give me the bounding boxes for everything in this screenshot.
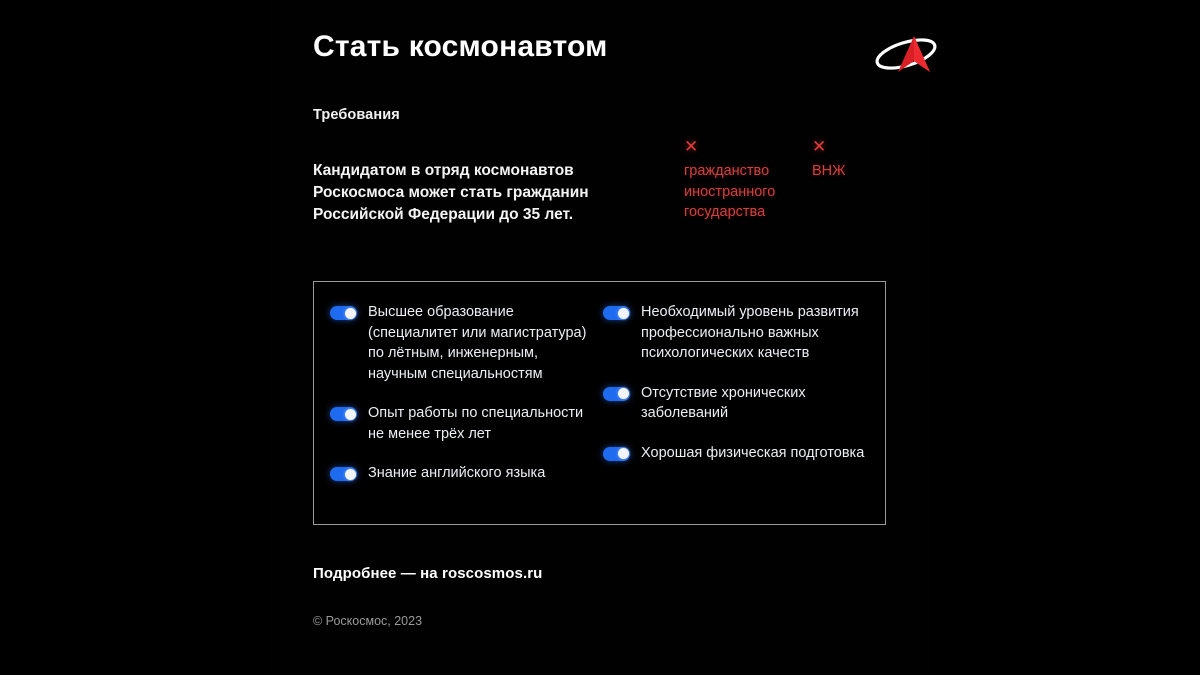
toggle-switch-icon[interactable] (330, 306, 357, 320)
toggle-switch-icon[interactable] (603, 447, 630, 461)
roscosmos-logo-icon (872, 28, 940, 80)
toggle-switch-icon[interactable] (330, 407, 357, 421)
more-info-link[interactable]: Подробнее — на roscosmos.ru (313, 565, 542, 582)
toggle-knob-icon (345, 469, 356, 480)
criteria-item-label: Хорошая физическая подготовка (641, 443, 864, 464)
criteria-item-label: Высшее образование (специалитет или маги… (368, 302, 598, 384)
slide-canvas: Стать космонавтом Требования Кандидатом … (270, 0, 930, 675)
excluded-item-label: гражданство иностранного государства (684, 161, 802, 223)
criteria-item-work-experience[interactable]: Опыт работы по специаль­ности не менее т… (330, 403, 598, 444)
criteria-item-english-language[interactable]: Знание английского языка (330, 463, 598, 484)
excluded-item-label: ВНЖ (812, 161, 912, 182)
criteria-item-higher-education[interactable]: Высшее образование (специалитет или маги… (330, 302, 598, 384)
criteria-item-label: Знание английского языка (368, 463, 545, 484)
cross-icon: ✕ (684, 138, 802, 155)
toggle-knob-icon (618, 388, 629, 399)
criteria-columns: Высшее образование (специалитет или маги… (314, 282, 885, 524)
criteria-column-right: Необходимый уровень развития профессиона… (603, 302, 871, 463)
page-title: Стать космонавтом (313, 30, 608, 64)
excluded-item-residence-permit: ✕ ВНЖ (812, 138, 912, 182)
criteria-item-physical-fitness[interactable]: Хорошая физическая подготовка (603, 443, 871, 464)
toggle-switch-icon[interactable] (603, 387, 630, 401)
toggle-knob-icon (618, 308, 629, 319)
toggle-knob-icon (345, 409, 356, 420)
excluded-conditions-group: ✕ гражданство иностранного государства ✕… (684, 138, 924, 248)
criteria-item-label: Опыт работы по специаль­ности не менее т… (368, 403, 598, 444)
criteria-item-label: Отсутствие хронических заболеваний (641, 383, 871, 424)
toggle-switch-icon[interactable] (603, 306, 630, 320)
requirements-heading: Требования (313, 107, 400, 123)
cross-icon: ✕ (812, 138, 912, 155)
toggle-knob-icon (345, 308, 356, 319)
criteria-column-left: Высшее образование (специалитет или маги… (330, 302, 598, 484)
criteria-item-label: Необходимый уровень развития профессиона… (641, 302, 871, 364)
excluded-item-foreign-citizenship: ✕ гражданство иностранного государства (684, 138, 802, 223)
presentation-slide: Стать космонавтом Требования Кандидатом … (0, 0, 1200, 675)
toggle-knob-icon (618, 448, 629, 459)
criteria-item-psychological-qualities[interactable]: Необходимый уровень развития профессиона… (603, 302, 871, 364)
copyright-text: © Роскосмос, 2023 (313, 614, 422, 628)
toggle-switch-icon[interactable] (330, 467, 357, 481)
criteria-card: Высшее образование (специалитет или маги… (313, 281, 886, 525)
requirements-lead-text: Кандидатом в отряд космонавтов Роскосмос… (313, 160, 613, 226)
criteria-item-no-chronic-diseases[interactable]: Отсутствие хронических заболеваний (603, 383, 871, 424)
slide-header: Стать космонавтом (313, 30, 913, 90)
